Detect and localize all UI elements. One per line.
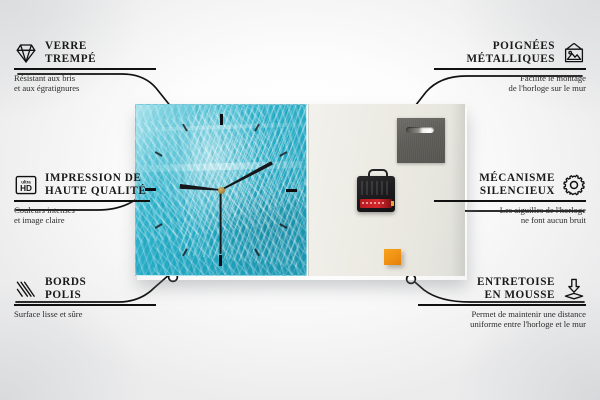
svg-text:HD: HD xyxy=(20,184,32,193)
mechanism-hanging-loop xyxy=(368,169,388,180)
callout-header: POIGNÉES MÉTALLIQUES xyxy=(434,40,586,65)
callout-title: VERRE TREMPÉ xyxy=(45,40,96,65)
callout-rule xyxy=(14,68,156,70)
callout-mecanisme-silencieux: MÉCANISME SILENCIEUX Les aiguilles de l'… xyxy=(434,172,586,226)
callout-subtitle: Résistant aux bris et aux égratignures xyxy=(14,73,164,94)
callout-title: MÉCANISME SILENCIEUX xyxy=(479,172,555,197)
diamond-icon xyxy=(14,41,38,65)
callout-rule xyxy=(14,304,156,306)
clock-tick xyxy=(155,189,222,229)
callout-title: BORDS POLIS xyxy=(45,276,86,301)
mechanism-detail xyxy=(361,181,391,195)
callout-subtitle: Permet de maintenir une distance uniform… xyxy=(418,309,586,330)
callout-subtitle: Les aiguilles de l'horloge ne font aucun… xyxy=(434,205,586,226)
picture-hanger-icon xyxy=(562,41,586,65)
clock-center-hub xyxy=(218,187,225,194)
ultra-hd-icon: ultra HD xyxy=(14,173,38,197)
callout-subtitle: Couleurs intenses et image claire xyxy=(14,205,156,226)
callout-header: BORDS POLIS xyxy=(14,276,164,301)
callout-title: IMPRESSION DE HAUTE QUALITÉ xyxy=(45,172,146,197)
callout-poignees-metalliques: POIGNÉES MÉTALLIQUES Facilite le montage… xyxy=(434,40,586,94)
callout-rule xyxy=(434,68,586,70)
callout-subtitle: Facilite le montage de l'horloge sur le … xyxy=(434,73,586,94)
metal-hanger-plate xyxy=(397,118,445,163)
product-image xyxy=(135,104,465,276)
clock-tick xyxy=(221,189,297,191)
battery xyxy=(360,199,392,208)
gear-icon xyxy=(562,173,586,197)
clock-mechanism xyxy=(357,176,395,212)
hanger-keyhole-slot xyxy=(406,127,434,133)
callout-title: ENTRETOISE EN MOUSSE xyxy=(477,276,555,301)
callout-header: ultra HD IMPRESSION DE HAUTE QUALITÉ xyxy=(14,172,156,197)
callout-verre-trempe: VERRE TREMPÉ Résistant aux bris et aux é… xyxy=(14,40,164,94)
callout-subtitle: Surface lisse et sûre xyxy=(14,309,164,319)
callout-header: ENTRETOISE EN MOUSSE xyxy=(418,276,586,301)
callout-rule xyxy=(14,200,150,202)
infographic-canvas: VERRE TREMPÉ Résistant aux bris et aux é… xyxy=(0,0,600,400)
callout-bords-polis: BORDS POLIS Surface lisse et sûre xyxy=(14,276,164,319)
callout-header: VERRE TREMPÉ xyxy=(14,40,164,65)
callout-header: MÉCANISME SILENCIEUX xyxy=(434,172,586,197)
foam-spacer xyxy=(384,249,401,265)
clock-second-hand xyxy=(220,190,222,254)
clock-front-face xyxy=(135,104,307,276)
callout-entretoise-en-mousse: ENTRETOISE EN MOUSSE Permet de maintenir… xyxy=(418,276,586,330)
foam-spacer-icon xyxy=(562,277,586,301)
polished-edges-icon xyxy=(14,277,38,301)
callout-rule xyxy=(434,200,586,202)
callout-impression-haute-qualite: ultra HD IMPRESSION DE HAUTE QUALITÉ Cou… xyxy=(14,172,156,226)
callout-title: POIGNÉES MÉTALLIQUES xyxy=(466,40,555,65)
callout-rule xyxy=(418,304,586,306)
clock-tick xyxy=(220,114,222,190)
battery-label xyxy=(362,202,384,204)
